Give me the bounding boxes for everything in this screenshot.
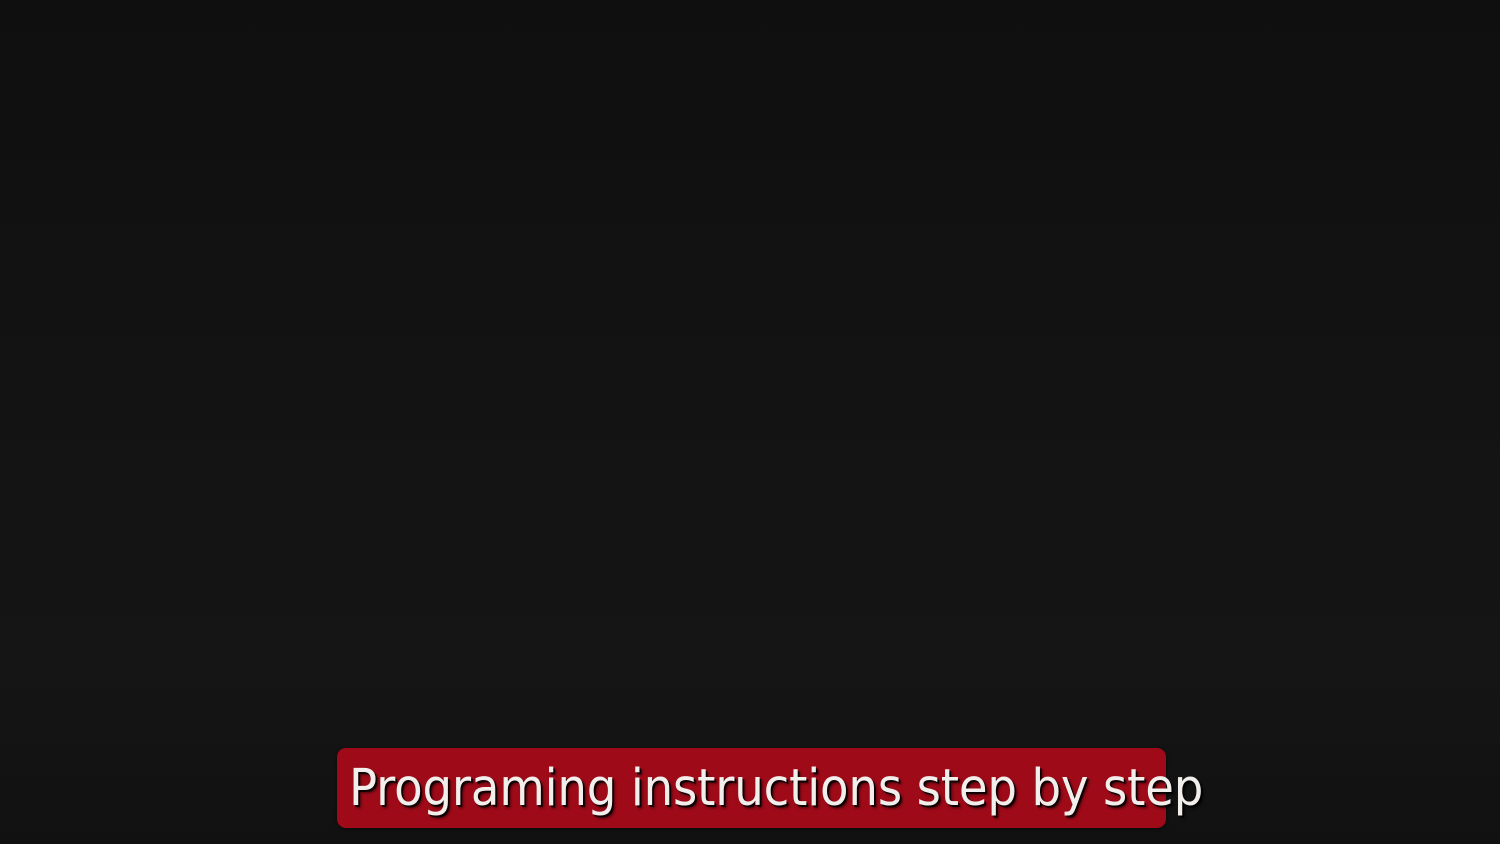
caption-layer: Programing instructions step by step	[0, 748, 1500, 830]
video-frame: Programing instructions step by step	[0, 0, 1500, 844]
caption-text: Programing instructions step by step	[349, 763, 1203, 814]
video-content-area	[0, 0, 1500, 740]
caption-banner: Programing instructions step by step	[337, 748, 1166, 828]
